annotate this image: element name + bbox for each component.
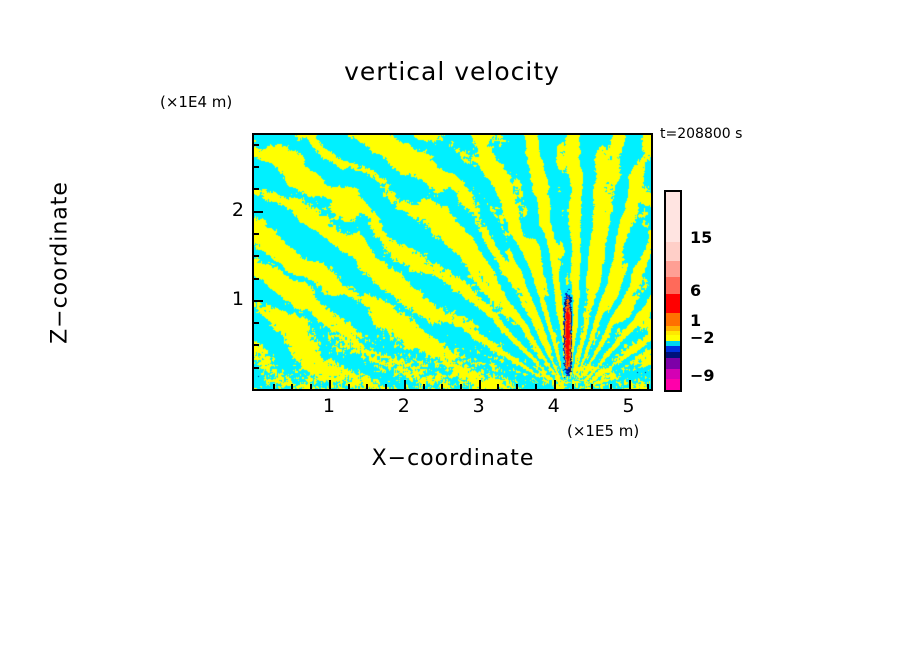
x-tick <box>460 384 462 389</box>
x-tick-label-4: 5 <box>614 395 644 417</box>
x-tick <box>554 380 556 389</box>
colorbar-tick-label-4: −9 <box>690 366 715 385</box>
colorbar-tick-label-0: 15 <box>690 228 712 247</box>
z-axis-label: Z−coordinate <box>48 163 73 363</box>
colorbar-band-10 <box>666 294 680 313</box>
colorbar <box>664 190 682 392</box>
colorbar-band-1 <box>666 369 680 380</box>
x-tick <box>385 384 387 389</box>
colorbar-band-0 <box>666 379 680 390</box>
colorbar-band-2 <box>666 358 680 369</box>
x-tick <box>479 380 481 389</box>
x-tick <box>497 384 499 389</box>
z-axis-unit: (×1E4 m) <box>160 93 232 111</box>
y-tick <box>254 233 259 235</box>
x-axis-label: X−coordinate <box>252 446 654 471</box>
x-tick-label-2: 3 <box>464 395 494 417</box>
plot-area <box>252 133 653 391</box>
x-tick <box>366 384 368 389</box>
x-tick <box>647 384 649 389</box>
time-stamp-annotation: t=208800 s <box>660 126 742 142</box>
y-tick-label-0: 1 <box>214 288 244 310</box>
colorbar-band-12 <box>666 261 680 278</box>
y-tick <box>254 322 259 324</box>
velocity-field-heatmap <box>254 135 651 389</box>
x-tick <box>441 384 443 389</box>
x-tick <box>572 384 574 389</box>
y-tick <box>254 344 259 346</box>
x-tick-label-1: 2 <box>389 395 419 417</box>
x-tick <box>348 384 350 389</box>
y-tick <box>254 188 259 190</box>
colorbar-band-9 <box>666 313 680 326</box>
colorbar-tick-label-3: −2 <box>690 328 715 347</box>
colorbar-band-14 <box>666 192 680 242</box>
x-tick <box>404 380 406 389</box>
x-tick-label-3: 4 <box>539 395 569 417</box>
y-tick <box>254 211 263 213</box>
x-tick <box>423 384 425 389</box>
colorbar-band-13 <box>666 242 680 261</box>
colorbar-band-11 <box>666 277 680 294</box>
y-tick <box>254 278 259 280</box>
x-tick <box>591 384 593 389</box>
x-tick <box>329 380 331 389</box>
x-tick <box>629 380 631 389</box>
x-tick <box>273 384 275 389</box>
x-tick <box>535 384 537 389</box>
x-tick <box>516 384 518 389</box>
y-tick-label-1: 2 <box>214 199 244 221</box>
y-tick <box>254 166 259 168</box>
x-tick <box>610 384 612 389</box>
colorbar-tick-label-1: 6 <box>690 281 701 300</box>
page-title: vertical velocity <box>0 57 904 86</box>
y-tick <box>254 367 259 369</box>
y-tick <box>254 144 259 146</box>
x-tick <box>310 384 312 389</box>
x-axis-unit: (×1E5 m) <box>567 422 639 440</box>
x-tick-label-0: 1 <box>314 395 344 417</box>
y-tick <box>254 255 259 257</box>
x-tick <box>291 384 293 389</box>
y-tick <box>254 300 263 302</box>
